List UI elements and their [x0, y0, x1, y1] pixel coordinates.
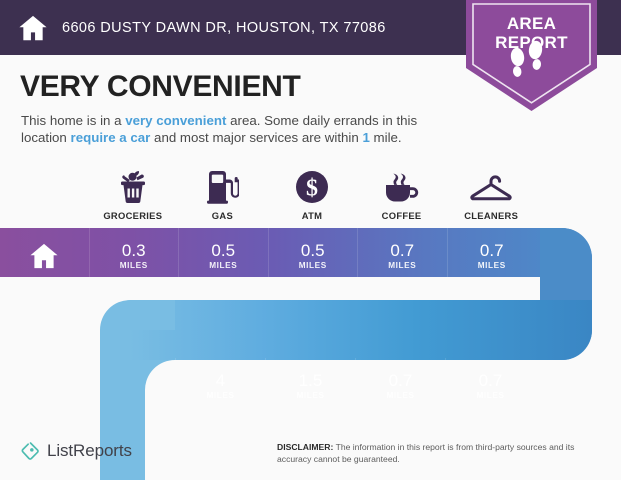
- listreports-house-icon: [20, 441, 40, 461]
- distance-unit-groceries: MILES: [120, 261, 148, 270]
- summary-highlight-3: 1: [362, 130, 369, 145]
- icon-label-groceries: GROCERIES: [103, 210, 162, 221]
- distance-cell-coffee: 0.7 MILES: [357, 228, 447, 283]
- distance-unit-medical: MILES: [386, 391, 414, 400]
- icon-label-atm: ATM: [302, 210, 323, 221]
- distance-cell-movie-theater: 4 MILES: [175, 358, 265, 413]
- groceries-basket-icon: [115, 168, 151, 204]
- home-icon: [29, 242, 59, 270]
- distance-value-gas: 0.5: [211, 242, 235, 260]
- distance-value-gym: 1.5: [299, 372, 323, 390]
- icon-cell-groceries: GROCERIES: [88, 168, 178, 221]
- distance-unit-gym: MILES: [296, 391, 324, 400]
- icon-cell-atm: $ ATM: [267, 168, 357, 221]
- distance-unit-pharmacy: MILES: [476, 391, 504, 400]
- summary-highlight-2: require a car: [71, 130, 151, 145]
- svg-text:$: $: [306, 176, 318, 202]
- distance-unit-cleaners: MILES: [478, 261, 506, 270]
- distance-row-primary: 0.3 MILES 0.5 MILES 0.5 MILES 0.7 MILES …: [0, 228, 536, 283]
- listreports-logo: ListReports: [20, 441, 132, 461]
- icon-cell-coffee: COFFEE: [357, 168, 447, 221]
- icon-label-gas: GAS: [212, 210, 233, 221]
- distance-value-atm: 0.5: [301, 242, 325, 260]
- icon-cell-gas: GAS: [178, 168, 268, 221]
- distance-value-groceries: 0.3: [122, 242, 146, 260]
- distance-unit-atm: MILES: [299, 261, 327, 270]
- dollar-circle-icon: $: [295, 168, 329, 204]
- clothes-hanger-icon: [469, 168, 513, 204]
- home-marker-cell: [0, 228, 89, 283]
- distance-unit-movie-theater: MILES: [206, 391, 234, 400]
- distance-cell-gym: 1.5 MILES: [265, 358, 355, 413]
- coffee-cup-icon: [383, 168, 421, 204]
- distance-cell-medical: 0.7 MILES: [355, 358, 445, 413]
- distance-unit-gas: MILES: [209, 261, 237, 270]
- icon-label-coffee: COFFEE: [382, 210, 422, 221]
- disclaimer: DISCLAIMER: The information in this repo…: [277, 442, 597, 465]
- distance-cell-atm: 0.5 MILES: [268, 228, 358, 283]
- icon-row-primary: GROCERIES GAS $ ATM: [88, 168, 536, 221]
- distance-value-medical: 0.7: [389, 372, 413, 390]
- header-address: 6606 DUSTY DAWN DR, HOUSTON, TX 77086: [62, 20, 386, 36]
- distance-value-cleaners: 0.7: [480, 242, 504, 260]
- distance-cell-cleaners: 0.7 MILES: [447, 228, 537, 283]
- distance-cell-groceries: 0.3 MILES: [89, 228, 179, 283]
- area-report-badge: AREA REPORT: [466, 0, 597, 111]
- distance-value-coffee: 0.7: [390, 242, 414, 260]
- home-icon: [0, 13, 48, 43]
- icon-cell-cleaners: CLEANERS: [446, 168, 536, 221]
- listreports-logo-text: ListReports: [47, 441, 132, 461]
- disclaimer-label: DISCLAIMER:: [277, 442, 333, 452]
- distance-unit-coffee: MILES: [388, 261, 416, 270]
- distance-cell-gas: 0.5 MILES: [178, 228, 268, 283]
- summary-text: This home is in a very convenient area. …: [21, 112, 446, 146]
- summary-part-3: and most major services are within: [150, 130, 362, 145]
- icon-label-cleaners: CLEANERS: [464, 210, 518, 221]
- summary-part-1: This home is in a: [21, 113, 125, 128]
- page-title: VERY CONVENIENT: [20, 70, 301, 104]
- summary-highlight-1: very convenient: [125, 113, 226, 128]
- distance-value-pharmacy: 0.7: [479, 372, 503, 390]
- distance-cell-pharmacy: 0.7 MILES: [445, 358, 535, 413]
- gas-pump-icon: [206, 168, 239, 204]
- summary-part-4: mile.: [370, 130, 402, 145]
- distance-row-secondary: 4 MILES 1.5 MILES 0.7 MILES 0.7 MILES: [175, 358, 535, 413]
- distance-value-movie-theater: 4: [216, 372, 225, 390]
